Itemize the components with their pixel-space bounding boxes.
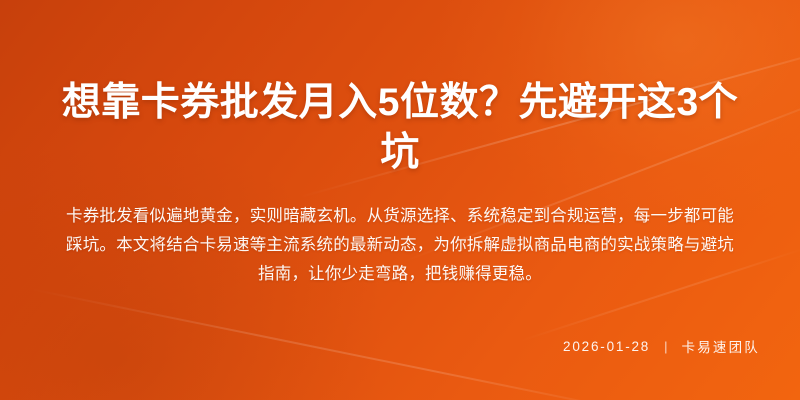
author-name: 卡易速团队 xyxy=(682,336,761,356)
poster-meta: 2026-01-28 | 卡易速团队 xyxy=(563,336,760,356)
poster-title: 想靠卡券批发月入5位数？先避开这3个坑 xyxy=(40,78,760,178)
meta-separator: | xyxy=(664,339,667,354)
poster-summary: 卡券批发看似遍地黄金，实则暗藏玄机。从货源选择、系统稳定到合规运营，每一步都可能… xyxy=(40,202,760,289)
poster-content: 想靠卡券批发月入5位数？先避开这3个坑 卡券批发看似遍地黄金，实则暗藏玄机。从货… xyxy=(0,0,800,400)
publish-date: 2026-01-28 xyxy=(563,339,650,354)
article-cover-poster: 想靠卡券批发月入5位数？先避开这3个坑 卡券批发看似遍地黄金，实则暗藏玄机。从货… xyxy=(0,0,800,400)
